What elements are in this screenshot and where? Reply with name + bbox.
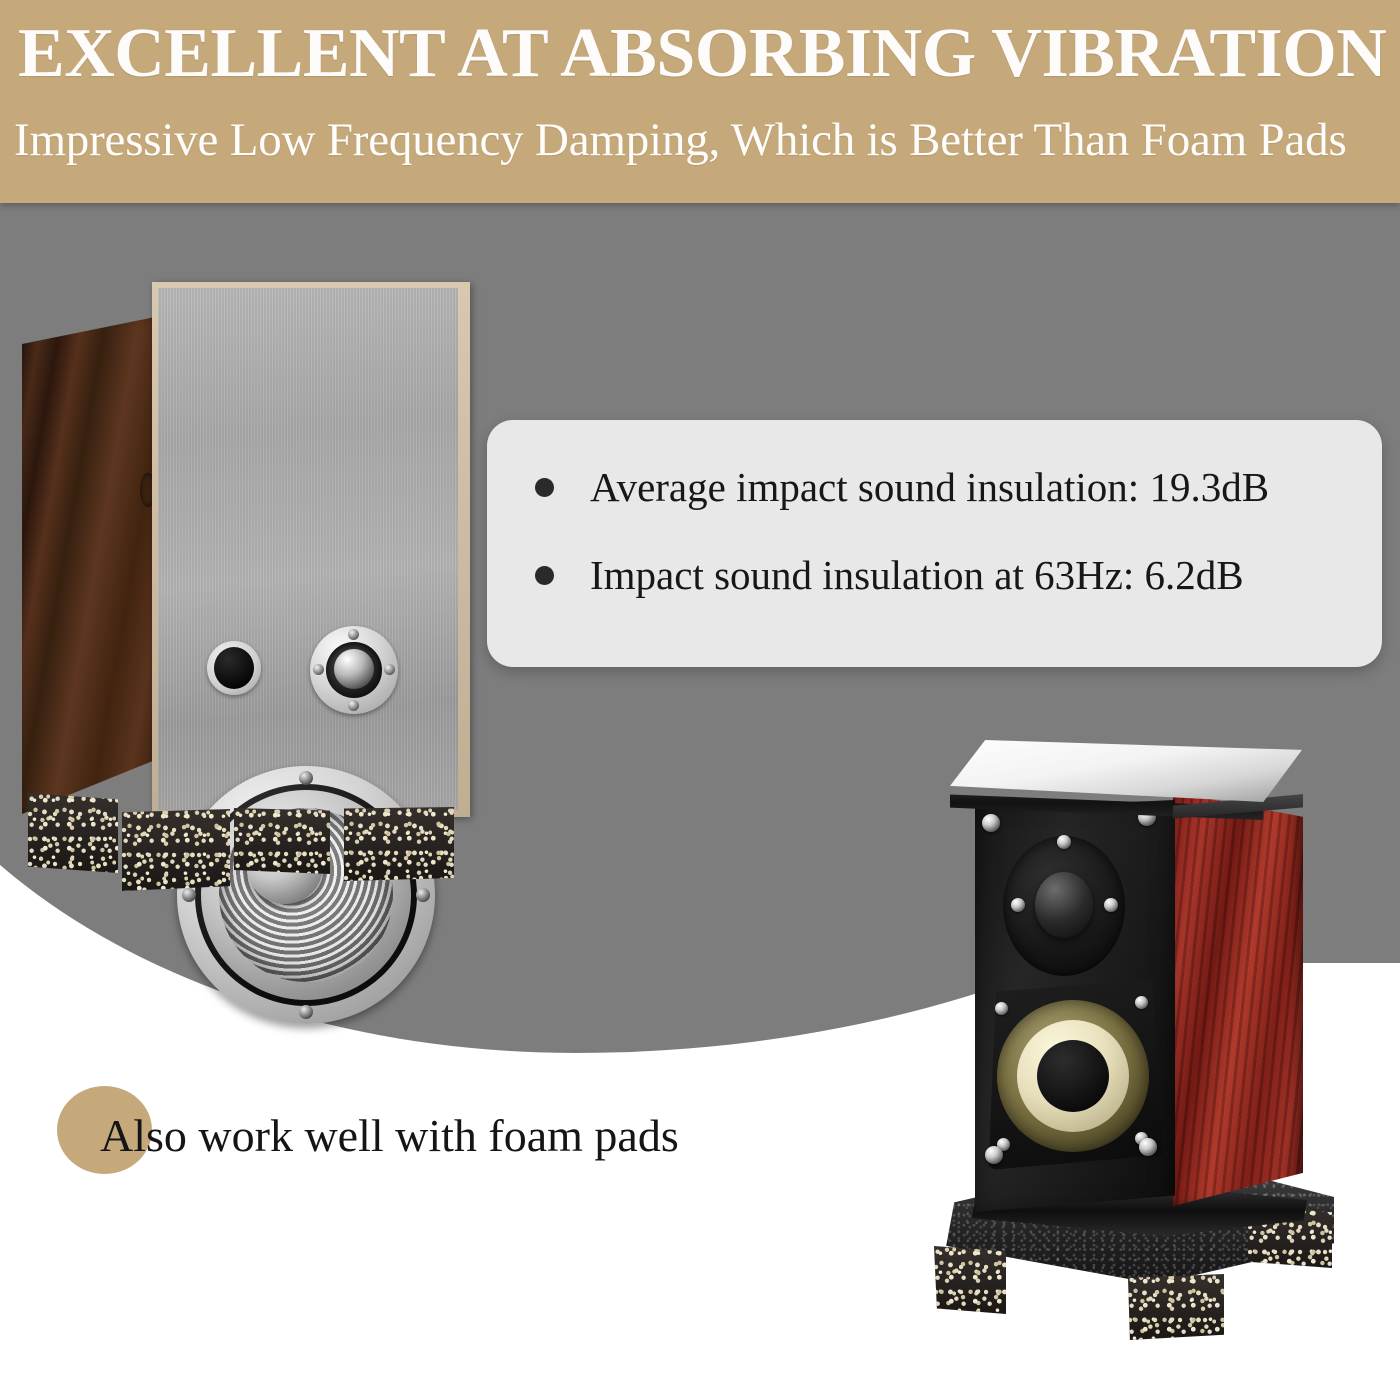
isolation-pad <box>1128 1274 1224 1340</box>
screw-icon <box>299 771 313 785</box>
tweeter-driver <box>1003 836 1125 976</box>
spec-text: Impact sound insulation at 63Hz: 6.2dB <box>590 552 1244 598</box>
speaker-right-gloss-top <box>950 740 1302 802</box>
screw-icon <box>416 888 430 902</box>
page-subtitle: Impressive Low Frequency Damping, Which … <box>14 114 1394 166</box>
woofer-driver <box>177 766 435 1024</box>
tweeter-dome <box>334 649 374 689</box>
screw-icon <box>348 629 359 640</box>
screw-icon <box>1011 898 1025 912</box>
isolation-pad <box>934 1246 1006 1314</box>
screw-icon <box>182 888 196 902</box>
woofer-dust-cap <box>1037 1040 1109 1112</box>
spec-list: Average impact sound insulation: 19.3dB … <box>487 420 1382 598</box>
list-item: Average impact sound insulation: 19.3dB <box>535 464 1382 510</box>
bullet-icon <box>535 478 554 497</box>
page-title: EXCELLENT AT ABSORBING VIBRATION <box>18 16 1386 92</box>
screw-icon <box>384 664 395 675</box>
isolation-pad <box>28 793 118 873</box>
screw-icon <box>985 1146 1003 1164</box>
speaker-left-baffle <box>158 288 458 810</box>
header-banner: EXCELLENT AT ABSORBING VIBRATION Impress… <box>0 0 1400 203</box>
screw-icon <box>348 700 359 711</box>
isolation-pad <box>122 809 230 891</box>
infographic-page: EXCELLENT AT ABSORBING VIBRATION Impress… <box>0 0 1400 1400</box>
speaker-left <box>22 281 470 843</box>
screw-icon <box>1139 1138 1157 1156</box>
screw-icon <box>995 1002 1008 1015</box>
speaker-left-wood-side <box>22 314 170 814</box>
speaker-right-wood-side <box>1173 792 1303 1206</box>
bullet-icon <box>535 566 554 585</box>
tweeter-dome <box>1035 872 1093 938</box>
spec-callout-box: Average impact sound insulation: 19.3dB … <box>487 420 1382 667</box>
isolation-pad <box>234 808 330 874</box>
screw-icon <box>1135 996 1148 1009</box>
screw-icon <box>299 1005 313 1019</box>
woofer-driver <box>985 980 1163 1170</box>
list-item: Impact sound insulation at 63Hz: 6.2dB <box>535 552 1382 598</box>
screw-icon <box>982 814 1000 832</box>
screw-icon <box>1057 835 1071 849</box>
tweeter-driver <box>310 626 398 714</box>
bass-port-icon <box>207 641 261 695</box>
speaker-right <box>930 740 1330 1340</box>
spec-text: Average impact sound insulation: 19.3dB <box>590 464 1269 510</box>
caption-label: Also work well with foam pads <box>100 1108 679 1164</box>
screw-icon <box>313 664 324 675</box>
screw-icon <box>1104 898 1118 912</box>
isolation-pad <box>344 807 454 881</box>
